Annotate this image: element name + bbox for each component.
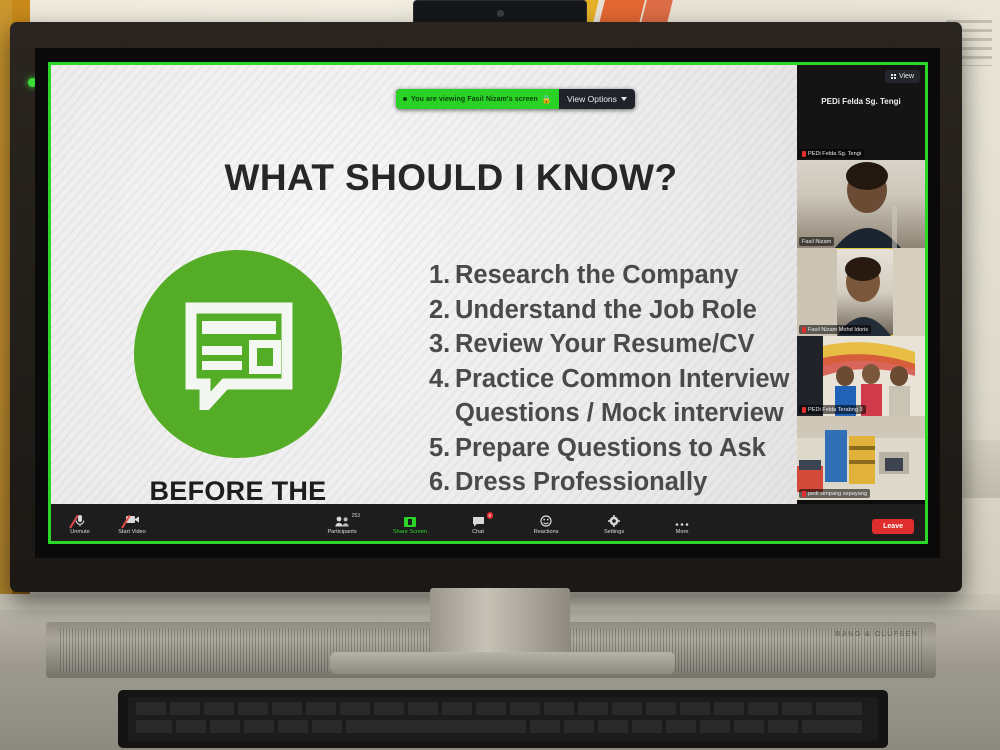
list-item-label: Dress Professionally [455, 465, 707, 500]
shared-slide: WHAT SHOULD I KNOW? BEFORE THE I [51, 65, 925, 541]
list-item: 5. Prepare Questions to Ask [429, 431, 859, 466]
chevron-down-icon [621, 97, 627, 101]
list-item-continuation: Questions / Mock interview [429, 396, 859, 431]
zoom-meeting-window: WHAT SHOULD I KNOW? BEFORE THE I [48, 62, 928, 544]
leave-button[interactable]: Leave [872, 519, 914, 534]
participants-icon [335, 514, 350, 527]
grid-layout-icon [891, 74, 896, 79]
participant-name-text: PEDi Felda Terabng 3 [808, 407, 863, 413]
unmute-button[interactable]: Unmute [60, 514, 100, 535]
microphone-muted-icon [802, 327, 806, 333]
settings-label: Settings [604, 529, 624, 535]
participant-name-label: PEDi Felda Terabng 3 [799, 405, 866, 414]
list-item: 6. Dress Professionally [429, 465, 859, 500]
slide-list: 1. Research the Company 2. Understand th… [429, 258, 859, 534]
chat-unread-badge: 6 [487, 512, 494, 519]
photo-of-monitor: WHAT SHOULD I KNOW? BEFORE THE I [0, 0, 1000, 750]
chat-icon [472, 514, 485, 527]
screen-share-topbar: You are viewing Fasil Nizam's screen 🔒 V… [396, 89, 635, 109]
meeting-toolbar: Unmute Start Video [48, 504, 928, 544]
list-item: 2. Understand the Job Role [429, 293, 859, 328]
lock-icon: 🔒 [542, 95, 552, 104]
list-item-label: Prepare Questions to Ask [455, 431, 766, 466]
list-item-number: 4. [429, 362, 455, 397]
speech-bubble-document-icon [134, 250, 342, 458]
unmute-label: Unmute [70, 529, 90, 535]
share-screen-icon [404, 514, 416, 527]
keyboard[interactable] [118, 690, 888, 750]
list-item-label: Research the Company [455, 258, 738, 293]
more-ellipsis-icon [675, 514, 689, 527]
participant-video-frame [797, 336, 925, 416]
participants-label: Participants [327, 529, 356, 535]
reactions-label: Reactions [534, 529, 559, 535]
viewing-screen-indicator: You are viewing Fasil Nizam's screen 🔒 [396, 89, 559, 109]
chat-button[interactable]: 6 Chat [458, 514, 498, 535]
gear-icon [608, 514, 620, 527]
start-video-label: Start Video [118, 529, 146, 535]
more-label: More [676, 529, 689, 535]
list-item-label: Review Your Resume/CV [455, 327, 755, 362]
participant-display-name: PEDi Felda Sg. Tengi [821, 97, 900, 106]
microphone-muted-icon [802, 491, 806, 497]
view-button-label: View [899, 73, 914, 80]
video-tile[interactable]: Fasil Nizam [797, 160, 925, 248]
settings-button[interactable]: Settings [594, 514, 634, 535]
list-item: 1. Research the Company [429, 258, 859, 293]
participant-name-label: Fasil Nizam Mohd Idoris [799, 325, 871, 334]
video-tile[interactable]: pedi simpang sepayang [797, 416, 925, 500]
list-item-label: Understand the Job Role [455, 293, 757, 328]
toolbar-center-group: 253 Participants Share Screen 6 Chat [152, 514, 872, 535]
list-item: 3. Review Your Resume/CV [429, 327, 859, 362]
more-button[interactable]: More [662, 514, 702, 535]
monitor-bezel: WHAT SHOULD I KNOW? BEFORE THE I [10, 22, 962, 592]
page-title: WHAT SHOULD I KNOW? [51, 157, 851, 199]
participant-name-text: PEDi Felda Sg. Tengi [808, 151, 861, 157]
participant-video-frame [797, 416, 925, 500]
participant-name-text: pedi simpang sepayang [808, 491, 867, 497]
reactions-icon [540, 514, 552, 527]
participant-name-text: Fasil Nizam Mohd Idoris [808, 327, 868, 333]
chat-label: Chat [472, 529, 484, 535]
video-tile[interactable]: PEDi Felda Terabng 3 [797, 336, 925, 416]
participant-video-frame [797, 248, 925, 336]
toolbar-left-group: Unmute Start Video [48, 514, 152, 535]
participants-video-panel[interactable]: PEDi Felda Sg. Tengi PEDi Felda Sg. Teng… [797, 65, 925, 541]
participant-name-label: pedi simpang sepayang [799, 489, 870, 498]
view-options-label: View Options [567, 94, 617, 104]
list-item-number: 6. [429, 465, 455, 500]
participant-name-text: Fasil Nizam [802, 239, 831, 245]
share-screen-label: Share Screen [393, 529, 427, 535]
view-layout-button[interactable]: View [885, 70, 920, 83]
list-item-label: Practice Common Interview [455, 362, 789, 397]
list-item-number: 2. [429, 293, 455, 328]
participant-video-frame [797, 160, 925, 248]
participants-count: 253 [352, 513, 360, 519]
microphone-muted-icon [802, 151, 806, 157]
list-item-label: Questions / Mock interview [429, 396, 784, 431]
list-item-number: 5. [429, 431, 455, 466]
viewing-screen-label: You are viewing Fasil Nizam's screen [411, 96, 538, 103]
video-tile-active-speaker[interactable]: Fasil Nizam Mohd Idoris [797, 248, 925, 336]
participants-button[interactable]: 253 Participants [322, 514, 362, 535]
list-item: 4. Practice Common Interview [429, 362, 859, 397]
start-video-button[interactable]: Start Video [112, 514, 152, 535]
microphone-muted-icon [74, 514, 86, 527]
share-screen-button[interactable]: Share Screen [390, 514, 430, 535]
reactions-button[interactable]: Reactions [526, 514, 566, 535]
monitor-stand-base [330, 652, 675, 674]
toolbar-right-group: Leave [872, 515, 928, 533]
recording-dot-icon [403, 97, 407, 101]
list-item-number: 1. [429, 258, 455, 293]
microphone-muted-icon [802, 407, 806, 413]
bang-olufsen-logo: BANG & OLUFSEN [835, 629, 918, 638]
camera-muted-icon [126, 514, 138, 527]
monitor-stand-neck [430, 588, 570, 660]
slide-badge: BEFORE THE INTERVIEW [113, 250, 363, 540]
view-options-button[interactable]: View Options [559, 89, 635, 109]
participant-name-label: PEDi Felda Sg. Tengi [799, 149, 864, 158]
list-item-number: 3. [429, 327, 455, 362]
participant-name-label: Fasil Nizam [799, 237, 834, 246]
